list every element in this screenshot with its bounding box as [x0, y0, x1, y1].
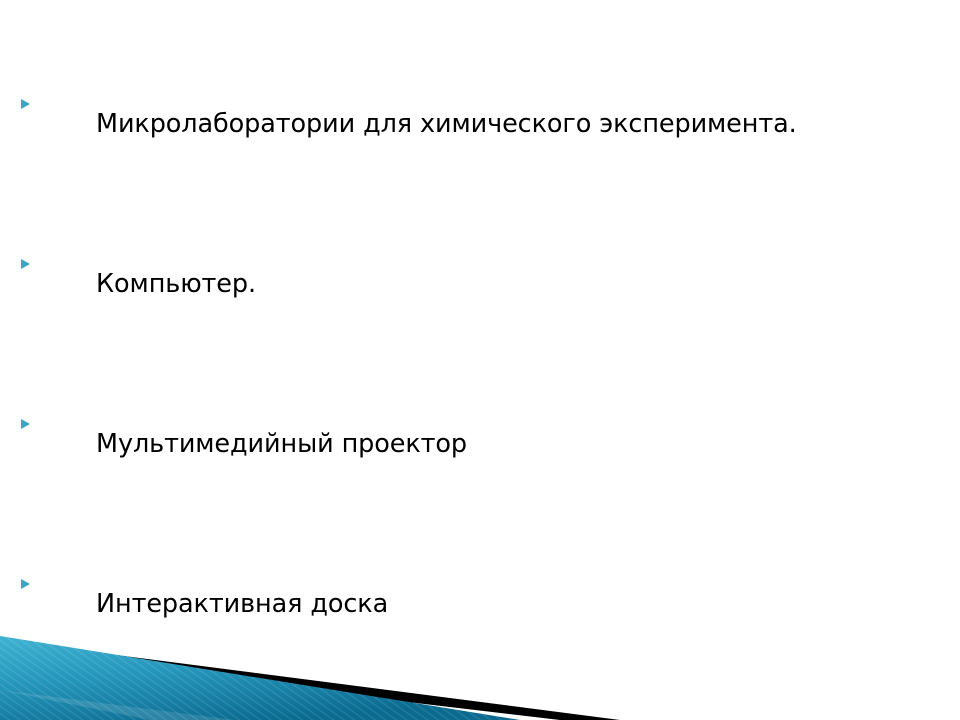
line-text: Компьютер.: [96, 269, 256, 299]
line-text: Мультимедийный проектор: [96, 429, 467, 459]
bullet-list-item: Интерактивная доска: [0, 504, 960, 664]
slide-canvas: Микролаборатории для химического экспери…: [0, 0, 960, 720]
triangle-bullet-icon: [21, 579, 30, 589]
bullet-list-item: Комплект электронных пособий по курсу хи…: [0, 664, 960, 720]
triangle-bullet-icon: [21, 419, 30, 429]
slide-body-text: Микролаборатории для химического экспери…: [0, 24, 960, 720]
line-text: Микролаборатории для химического экспери…: [96, 109, 797, 139]
bullet-list-item: Мультимедийный проектор: [0, 344, 960, 504]
bullet-list-item: Микролаборатории для химического экспери…: [0, 24, 960, 184]
line-text: Интерактивная доска: [96, 589, 388, 619]
bullet-list-item: Компьютер.: [0, 184, 960, 344]
triangle-bullet-icon: [21, 99, 30, 109]
triangle-bullet-icon: [21, 259, 30, 269]
